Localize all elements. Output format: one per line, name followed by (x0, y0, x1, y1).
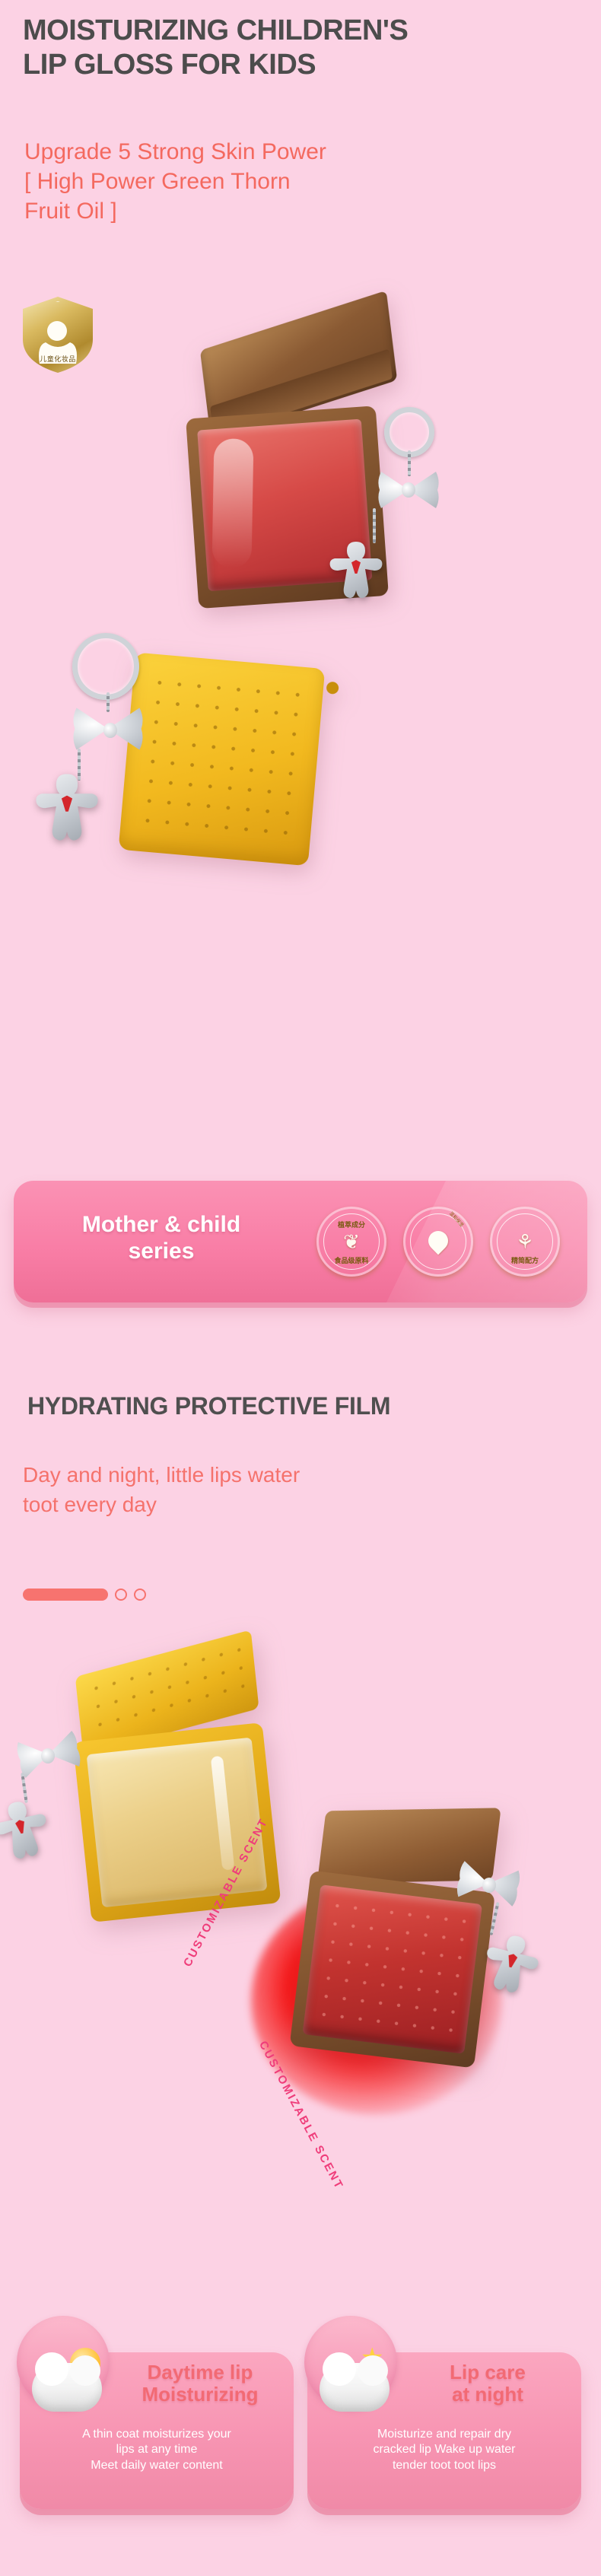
banner-title: Mother & child series (47, 1211, 275, 1265)
certification-coin-group: 植萃成分 ❦ 食品级原料 温和保湿 ⚘ 精简配方 (316, 1207, 560, 1277)
feature-card-group: Daytime lip Moisturizing A thin coat moi… (0, 2336, 601, 2533)
cloud-icon (320, 2363, 390, 2412)
card-body: Moisturize and repair dry cracked lip Wa… (318, 2427, 571, 2473)
pagination-indicator[interactable] (23, 1589, 146, 1601)
page-title-line1: MOISTURIZING CHILDREN'S (23, 14, 578, 48)
bow-knot-right (482, 1878, 496, 1893)
page-title: MOISTURIZING CHILDREN'S LIP GLOSS FOR KI… (23, 14, 578, 82)
card-body-line1: Moisturize and repair dry (318, 2427, 571, 2442)
pan-dot-texture (313, 1896, 472, 2046)
product-photo-group-1 (0, 274, 601, 1149)
feature-card-night: ★ Lip care at night Moisturize and repai… (307, 2352, 581, 2509)
page-title-line2: LIP GLOSS FOR KIDS (23, 48, 578, 82)
card-title: Lip care at night (405, 2361, 571, 2406)
card-body: A thin coat moisturizes your lips at any… (30, 2427, 283, 2473)
bow-knot-upper (402, 482, 415, 498)
gingerbread-man-charm-upper (329, 540, 383, 599)
coin-bottom-text: 食品级原料 (316, 1255, 386, 1265)
card-body-line2: cracked lip Wake up water (318, 2442, 571, 2457)
section-subtitle-line2: toot every day (23, 1490, 525, 1520)
card-title: Daytime lip Moisturizing (117, 2361, 283, 2406)
page-subtitle: Upgrade 5 Strong Skin Power [ High Power… (24, 137, 557, 226)
water-drop-icon: 温和保湿 (403, 1207, 473, 1277)
yellow-lip-gloss-compact-open (65, 1639, 323, 1966)
gloss-shine-highlight (211, 438, 253, 568)
card-body-line3: Meet daily water content (30, 2458, 283, 2473)
banner-title-line2: series (47, 1238, 275, 1264)
page-subtitle-line3: Fruit Oil ] (24, 196, 557, 226)
product-listing-page: MOISTURIZING CHILDREN'S LIP GLOSS FOR KI… (0, 0, 601, 2576)
pagination-dot-3[interactable] (134, 1589, 146, 1601)
product-photo-group-2: CUSTOMIZABLE SCENT CUSTOMIZABLE SCENT (0, 1636, 601, 2275)
card-title-line2: at night (405, 2384, 571, 2406)
gold-gloss-pan (87, 1738, 268, 1908)
biscuit-dot-texture (136, 672, 307, 848)
page-subtitle-line1: Upgrade 5 Strong Skin Power (24, 137, 557, 167)
cloud-icon (32, 2363, 102, 2412)
keyring-lower (72, 633, 139, 700)
card-body-line1: A thin coat moisturizes your (30, 2427, 283, 2442)
gingerbread-body (0, 1795, 54, 1864)
chain-lower (107, 692, 110, 712)
gingerbread-man-charm-left (0, 1795, 54, 1864)
coin-top-text: 植萃成分 (316, 1220, 386, 1229)
card-body-line2: lips at any time (30, 2442, 283, 2457)
pagination-dot-2[interactable] (115, 1589, 127, 1601)
mother-child-series-banner: Mother & child series 植萃成分 ❦ 食品级原料 温和保湿 … (14, 1181, 587, 1302)
yellow-biscuit-compact (115, 638, 364, 908)
card-title-line2: Moisturizing (117, 2384, 283, 2406)
biscuit-keyhole (326, 682, 339, 695)
coin-glyph: ❦ (343, 1232, 360, 1251)
bottle-icon: ⚘ 精简配方 (490, 1207, 560, 1277)
page-subtitle-line2: [ High Power Green Thorn (24, 167, 557, 196)
bow-knot-lower (103, 723, 117, 738)
banner-title-line1: Mother & child (47, 1211, 275, 1238)
coin-glyph: ⚘ (516, 1232, 533, 1251)
chain-upper (408, 450, 411, 476)
feature-card-daytime: Daytime lip Moisturizing A thin coat moi… (20, 2352, 294, 2509)
card-title-line1: Lip care (405, 2361, 571, 2384)
gingerbread-man-charm-lower (35, 772, 100, 842)
card-body-line3: tender toot toot lips (318, 2458, 571, 2473)
chain-upper-2 (373, 508, 376, 543)
card-title-line1: Daytime lip (117, 2361, 283, 2384)
section-title-hydrating: HYDRATING PROTECTIVE FILM (27, 1392, 575, 1420)
pagination-active-bar[interactable] (23, 1589, 108, 1601)
coin-bottom-text: 精简配方 (490, 1255, 560, 1265)
leaf-icon: 植萃成分 ❦ 食品级原料 (316, 1207, 386, 1277)
bow-knot-left (41, 1748, 55, 1763)
section-subtitle-hydrating: Day and night, little lips water toot ev… (23, 1461, 525, 1519)
section-subtitle-line1: Day and night, little lips water (23, 1461, 525, 1490)
